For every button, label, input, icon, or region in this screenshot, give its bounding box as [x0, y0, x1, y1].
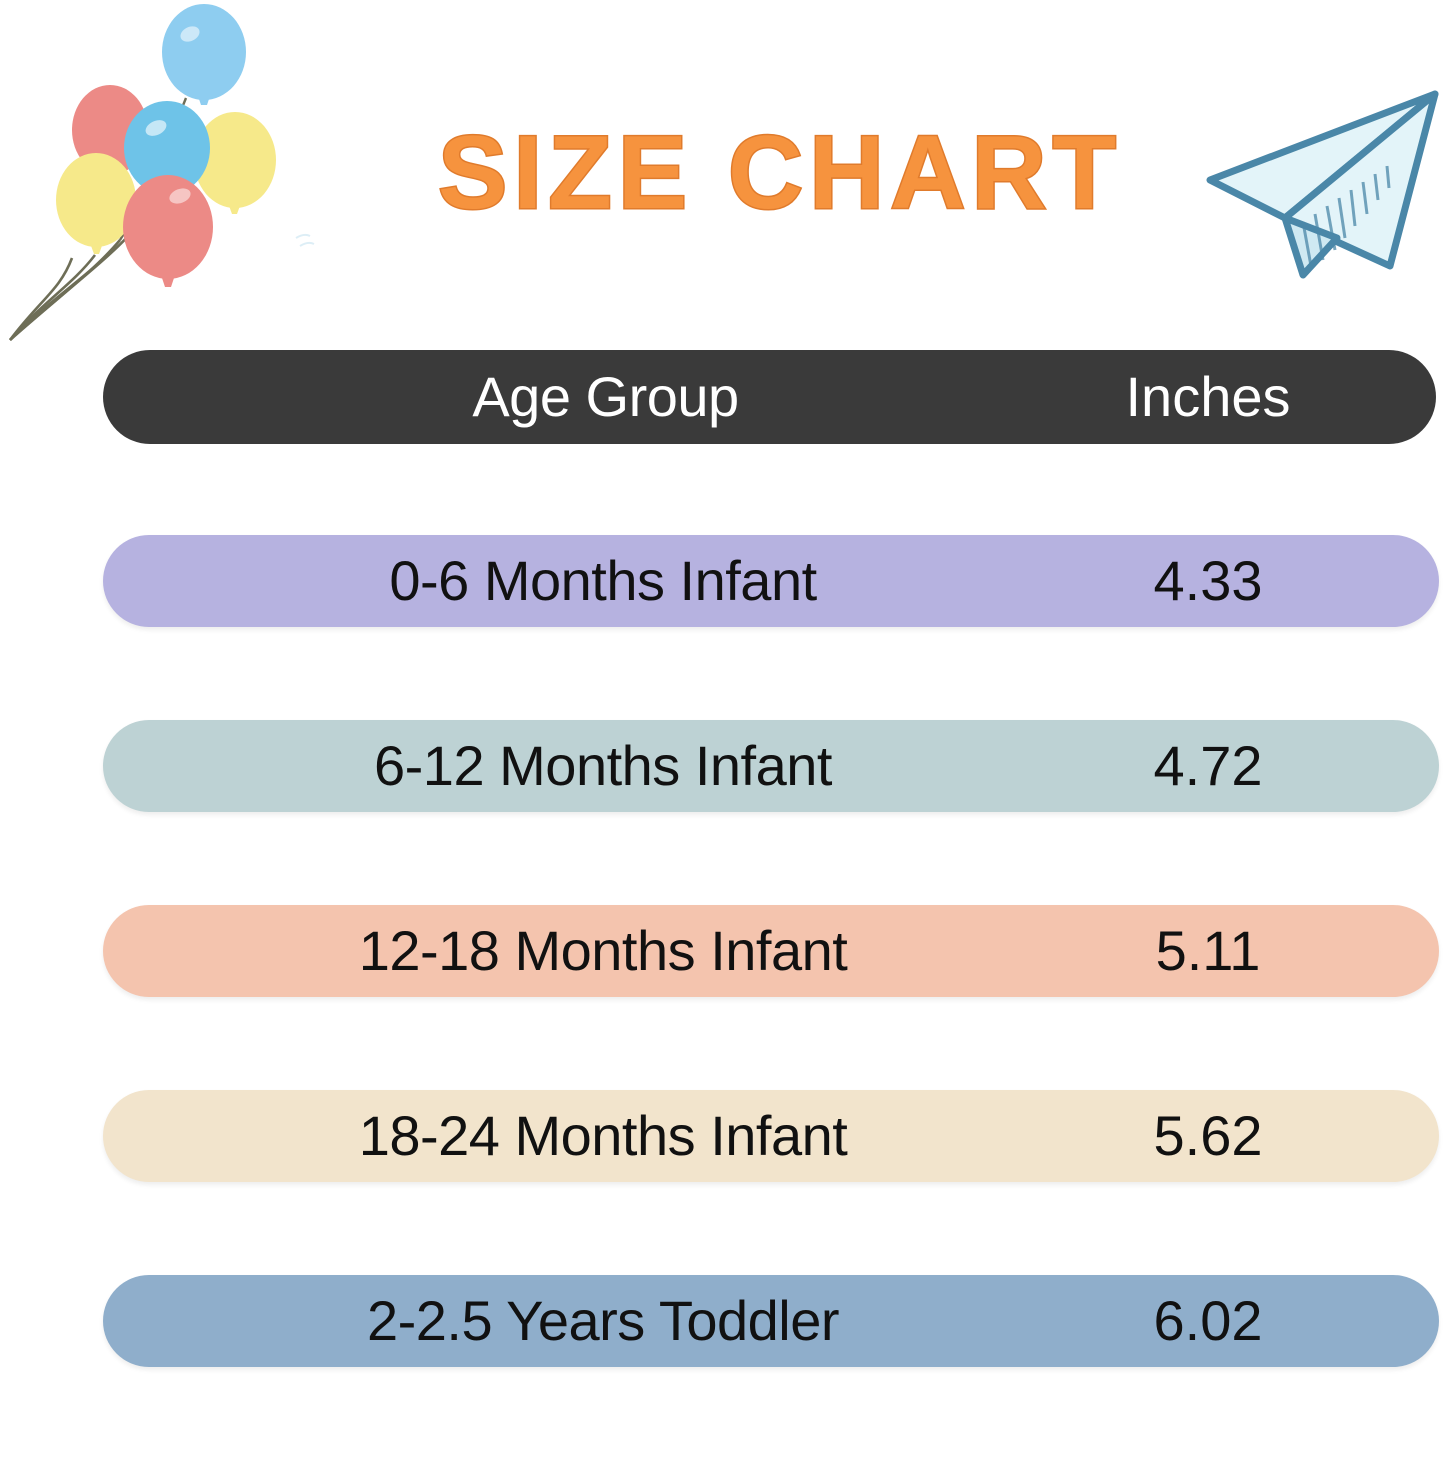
row-value: 6.02 [1103, 1293, 1313, 1349]
row-value: 4.72 [1103, 738, 1313, 794]
balloons-cluster [0, 0, 320, 345]
sketch-marks [296, 235, 314, 246]
row-label: 0-6 Months Infant [103, 553, 1103, 609]
balloon-red-bottom [123, 175, 213, 287]
column-header-age-group: Age Group [103, 369, 1108, 425]
column-header-inches: Inches [1103, 369, 1313, 425]
size-chart-title-art: SIZE CHART [400, 96, 1160, 246]
table-row: 0-6 Months Infant 4.33 [103, 535, 1439, 627]
paper-airplane-icon [1185, 70, 1445, 300]
table-header-row: Age Group Inches [103, 350, 1436, 444]
page-title-text: SIZE CHART [438, 115, 1122, 231]
row-label: 18-24 Months Infant [103, 1108, 1103, 1164]
table-row: 18-24 Months Infant 5.62 [103, 1090, 1439, 1182]
size-chart-table: Age Group Inches 0-6 Months Infant 4.33 … [0, 350, 1445, 1460]
table-row: 12-18 Months Infant 5.11 [103, 905, 1439, 997]
balloon-yellow-right [194, 112, 276, 214]
balloon-blue-middle [124, 101, 210, 202]
row-value: 5.62 [1103, 1108, 1313, 1164]
row-label: 6-12 Months Infant [103, 738, 1103, 794]
row-label: 12-18 Months Infant [103, 923, 1103, 979]
table-row: 6-12 Months Infant 4.72 [103, 720, 1439, 812]
balloon-red-left [72, 85, 148, 181]
balloon-yellow-left [56, 153, 136, 254]
row-value: 5.11 [1103, 923, 1313, 979]
table-row: 2-2.5 Years Toddler 6.02 [103, 1275, 1439, 1367]
row-label: 2-2.5 Years Toddler [103, 1293, 1103, 1349]
balloon-strings [10, 98, 186, 340]
row-value: 4.33 [1103, 553, 1313, 609]
page-title: SIZE CHART [400, 96, 1160, 246]
balloon-blue-top [162, 4, 246, 105]
